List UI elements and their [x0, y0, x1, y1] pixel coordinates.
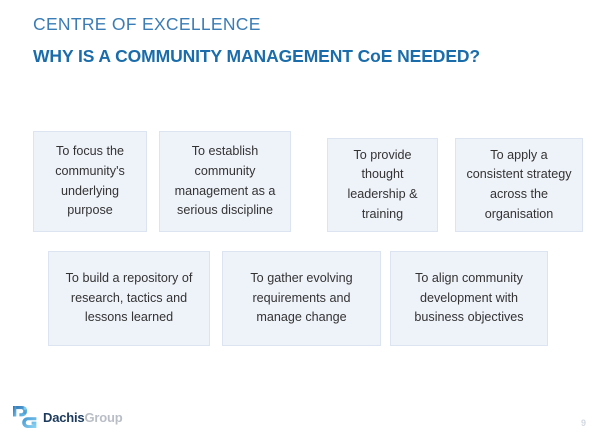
brand-wordmark: DachisGroup	[43, 410, 122, 425]
reason-box[interactable]: To focus the community's underlying purp…	[33, 131, 147, 232]
reason-box[interactable]: To provide thought leadership & training	[327, 138, 438, 232]
reason-box-label: To build a repository of research, tacti…	[55, 269, 203, 328]
reason-box-label: To gather evolving requirements and mana…	[229, 269, 374, 328]
dachis-dg-monogram-icon	[13, 406, 37, 428]
reason-box[interactable]: To build a repository of research, tacti…	[48, 251, 210, 346]
brand-name-primary: Dachis	[43, 410, 84, 425]
reason-box-label: To align community development with busi…	[397, 269, 541, 328]
reason-box[interactable]: To establish community management as a s…	[159, 131, 291, 232]
reason-box-label: To establish community management as a s…	[166, 142, 284, 220]
brand-name-secondary: Group	[84, 410, 122, 425]
reason-box-label: To provide thought leadership & training	[334, 146, 431, 224]
page-number: 9	[581, 418, 586, 428]
reason-box[interactable]: To gather evolving requirements and mana…	[222, 251, 381, 346]
reason-box[interactable]: To align community development with busi…	[390, 251, 548, 346]
slide-header: CENTRE OF EXCELLENCE WHY IS A COMMUNITY …	[33, 14, 580, 68]
slide-eyebrow: CENTRE OF EXCELLENCE	[33, 14, 580, 36]
footer-brand: DachisGroup	[13, 406, 122, 428]
reason-box-label: To apply a consistent strategy across th…	[462, 146, 576, 224]
reason-box-label: To focus the community's underlying purp…	[40, 142, 140, 220]
page-title: WHY IS A COMMUNITY MANAGEMENT CoE NEEDED…	[33, 45, 503, 68]
slide-canvas: CENTRE OF EXCELLENCE WHY IS A COMMUNITY …	[0, 0, 600, 443]
reason-box[interactable]: To apply a consistent strategy across th…	[455, 138, 583, 232]
